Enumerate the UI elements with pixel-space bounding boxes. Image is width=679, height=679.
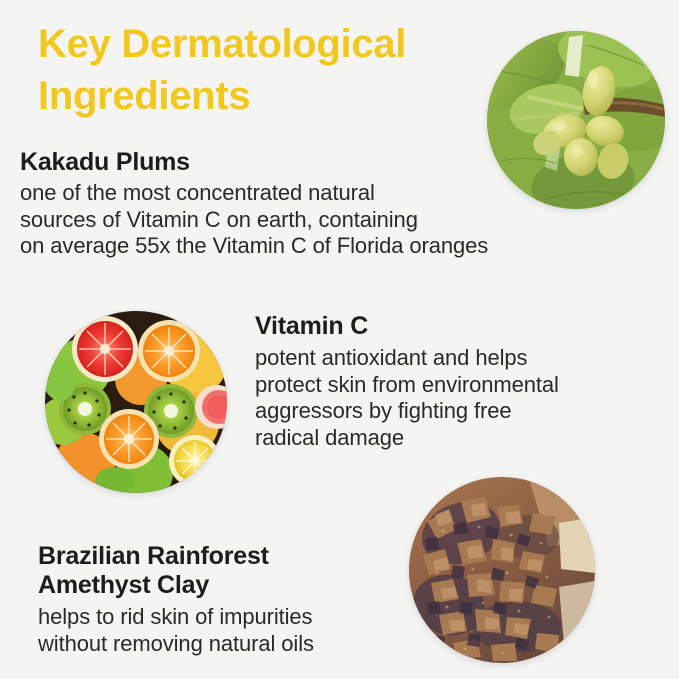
- amethyst-clay-illustration: [409, 477, 595, 663]
- ingredient-vitamin-c: Vitamin C potent antioxidant and helps p…: [255, 312, 655, 451]
- ingredient-body-vitamin-c: potent antioxidant and helps protect ski…: [255, 345, 655, 451]
- page-title: Key Dermatological Ingredients: [38, 18, 508, 122]
- citrus-fruit-photo: [45, 311, 227, 493]
- ingredient-body-amethyst-clay: helps to rid skin of impurities without …: [38, 604, 408, 657]
- citrus-fruit-illustration: [45, 311, 227, 493]
- ingredient-amethyst-clay: Brazilian Rainforest Amethyst Clay helps…: [38, 542, 408, 657]
- ingredient-kakadu-plums: Kakadu Plums one of the most concentrate…: [20, 148, 620, 260]
- ingredient-heading-vitamin-c: Vitamin C: [255, 312, 655, 341]
- amethyst-clay-photo: [409, 477, 595, 663]
- ingredients-infographic: Key Dermatological Ingredients: [0, 0, 679, 679]
- ingredient-body-kakadu-plums: one of the most concentrated natural sou…: [20, 180, 620, 260]
- ingredient-heading-amethyst-clay: Brazilian Rainforest Amethyst Clay: [38, 542, 408, 600]
- ingredient-heading-kakadu-plums: Kakadu Plums: [20, 148, 620, 177]
